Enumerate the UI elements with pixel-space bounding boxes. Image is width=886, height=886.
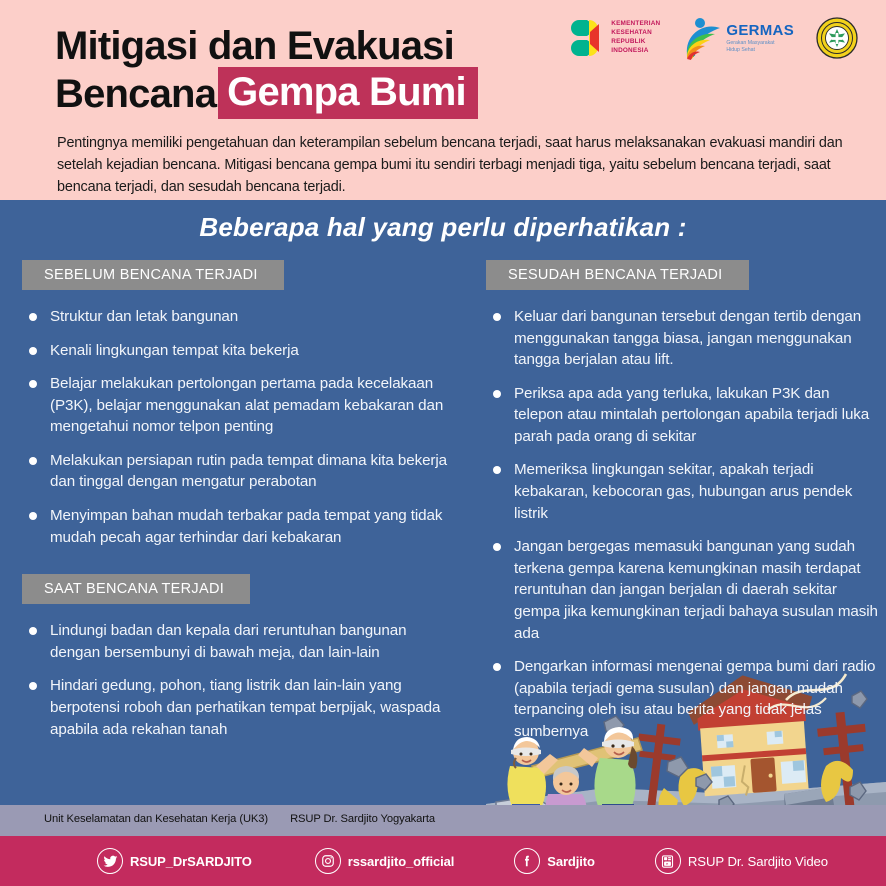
- list-sebelum-bencana: Struktur dan letak bangunan Kenali lingk…: [22, 306, 452, 548]
- list-item-text: Belajar melakukan pertolongan pertama pa…: [50, 375, 443, 435]
- group-saat-bencana: SAAT BENCANA TERJADI Lindungi badan dan …: [22, 548, 452, 740]
- credit-hospital: RSUP Dr. Sardjito Yogyakarta: [290, 813, 435, 825]
- germas-logo: GERMAS Gerakan Masyarakat Hidup Sehat: [682, 16, 794, 60]
- left-column: SEBELUM BENCANA TERJADI Struktur dan let…: [22, 260, 452, 740]
- list-item-text: Periksa apa ada yang terluka, lakukan P3…: [514, 385, 869, 445]
- kemenkes-line-3: REPUBLIK: [611, 38, 660, 47]
- list-item: Memeriksa lingkungan sekitar, apakah ter…: [486, 459, 878, 524]
- list-item-text: Lindungi badan dan kepala dari reruntuha…: [50, 622, 406, 661]
- kemenkes-line-4: INDONESIA: [611, 47, 660, 56]
- list-item: Melakukan persiapan rutin pada tempat di…: [22, 450, 452, 493]
- list-item-text: Hindari gedung, pohon, tiang listrik dan…: [50, 677, 440, 737]
- bullet-dot-icon: [29, 457, 37, 465]
- list-item-text: Menyimpan bahan mudah terbakar pada temp…: [50, 507, 442, 546]
- category-label-sesudah: SESUDAH BENCANA TERJADI: [486, 260, 749, 290]
- credit-unit: Unit Keselamatan dan Kesehatan Kerja (UK…: [44, 813, 268, 825]
- bullet-dot-icon: [493, 663, 501, 671]
- twitter-icon[interactable]: [97, 848, 123, 874]
- germas-subtitle: Gerakan Masyarakat Hidup Sehat: [726, 40, 794, 54]
- bullet-dot-icon: [493, 543, 501, 551]
- list-item-text: Keluar dari bangunan tersebut dengan ter…: [514, 308, 861, 368]
- bullet-dot-icon: [29, 682, 37, 690]
- germas-sub-2: Hidup Sehat: [726, 47, 794, 54]
- category-label-saat: SAAT BENCANA TERJADI: [22, 574, 250, 604]
- germas-title: GERMAS: [726, 22, 794, 39]
- hospital-seal-icon: [816, 17, 858, 59]
- social-instagram[interactable]: rssardjito_official: [315, 848, 454, 874]
- list-item: Hindari gedung, pohon, tiang listrik dan…: [22, 675, 452, 740]
- facebook-icon[interactable]: [514, 848, 540, 874]
- group-sebelum-bencana: SEBELUM BENCANA TERJADI Struktur dan let…: [22, 260, 452, 548]
- list-item: Struktur dan letak bangunan: [22, 306, 452, 328]
- bullet-dot-icon: [29, 380, 37, 388]
- list-item: Kenali lingkungan tempat kita bekerja: [22, 340, 452, 362]
- kemenkes-logo: KEMENTERIAN KESEHATAN REPUBLIK INDONESIA: [571, 18, 660, 58]
- social-youtube[interactable]: RSUP Dr. Sardjito Video: [655, 848, 828, 874]
- social-footer: RSUP_DrSARDJITO rssardjito_official Sard…: [0, 836, 886, 886]
- list-item: Menyimpan bahan mudah terbakar pada temp…: [22, 505, 452, 548]
- credit-bar: Unit Keselamatan dan Kesehatan Kerja (UK…: [0, 805, 886, 836]
- facebook-handle[interactable]: Sardjito: [547, 854, 595, 869]
- social-twitter[interactable]: RSUP_DrSARDJITO: [97, 848, 252, 874]
- intro-paragraph: Pentingnya memiliki pengetahuan dan kete…: [57, 133, 847, 199]
- title-plain-text: Bencana: [55, 72, 216, 118]
- instagram-handle[interactable]: rssardjito_official: [348, 854, 454, 869]
- bullet-dot-icon: [493, 313, 501, 321]
- kemenkes-mark-icon: [571, 18, 607, 58]
- list-item-text: Struktur dan letak bangunan: [50, 308, 238, 325]
- list-sesudah-bencana: Keluar dari bangunan tersebut dengan ter…: [486, 306, 878, 742]
- bullet-dot-icon: [493, 390, 501, 398]
- poster-title: Mitigasi dan Evakuasi Bencana Gempa Bumi: [55, 24, 575, 119]
- kemenkes-line-2: KESEHATAN: [611, 29, 660, 38]
- list-item-text: Kenali lingkungan tempat kita bekerja: [50, 342, 299, 359]
- list-item-text: Melakukan persiapan rutin pada tempat di…: [50, 452, 447, 491]
- bullet-dot-icon: [29, 627, 37, 635]
- poster-header: Mitigasi dan Evakuasi Bencana Gempa Bumi…: [0, 0, 886, 200]
- bullet-dot-icon: [493, 466, 501, 474]
- logo-row: KEMENTERIAN KESEHATAN REPUBLIK INDONESIA: [571, 16, 858, 60]
- list-saat-bencana: Lindungi badan dan kepala dari reruntuha…: [22, 620, 452, 740]
- rsup-sardjito-seal: [816, 17, 858, 59]
- youtube-handle[interactable]: RSUP Dr. Sardjito Video: [688, 854, 828, 869]
- germas-sub-1: Gerakan Masyarakat: [726, 40, 794, 47]
- bullet-dot-icon: [29, 512, 37, 520]
- list-item: Periksa apa ada yang terluka, lakukan P3…: [486, 383, 878, 448]
- kemenkes-line-1: KEMENTERIAN: [611, 20, 660, 29]
- group-sesudah-bencana: SESUDAH BENCANA TERJADI Keluar dari bang…: [486, 260, 878, 742]
- infographic-poster: Mitigasi dan Evakuasi Bencana Gempa Bumi…: [0, 0, 886, 886]
- list-item-text: Jangan bergegas memasuki bangunan yang s…: [514, 538, 878, 641]
- list-item: Lindungi badan dan kepala dari reruntuha…: [22, 620, 452, 663]
- germas-wordmark: GERMAS Gerakan Masyarakat Hidup Sehat: [726, 22, 794, 54]
- right-column: SESUDAH BENCANA TERJADI Keluar dari bang…: [486, 260, 878, 742]
- bullet-dot-icon: [29, 347, 37, 355]
- list-item: Dengarkan informasi mengenai gempa bumi …: [486, 656, 878, 742]
- germas-swoosh-icon: [682, 16, 724, 60]
- instagram-icon[interactable]: [315, 848, 341, 874]
- title-highlight-text: Gempa Bumi: [218, 67, 478, 119]
- title-line-2: Bencana Gempa Bumi: [55, 72, 575, 119]
- category-label-sebelum: SEBELUM BENCANA TERJADI: [22, 260, 284, 290]
- credit-text: Unit Keselamatan dan Kesehatan Kerja (UK…: [44, 813, 435, 825]
- social-facebook[interactable]: Sardjito: [514, 848, 595, 874]
- twitter-handle[interactable]: RSUP_DrSARDJITO: [130, 854, 252, 869]
- bullet-dot-icon: [29, 313, 37, 321]
- list-item: Keluar dari bangunan tersebut dengan ter…: [486, 306, 878, 371]
- kemenkes-wordmark: KEMENTERIAN KESEHATAN REPUBLIK INDONESIA: [611, 20, 660, 55]
- list-item-text: Memeriksa lingkungan sekitar, apakah ter…: [514, 461, 852, 521]
- title-line-1: Mitigasi dan Evakuasi: [55, 24, 575, 70]
- list-item-text: Dengarkan informasi mengenai gempa bumi …: [514, 658, 875, 740]
- list-item: Belajar melakukan pertolongan pertama pa…: [22, 373, 452, 438]
- section-heading: Beberapa hal yang perlu diperhatikan :: [0, 212, 886, 243]
- list-item: Jangan bergegas memasuki bangunan yang s…: [486, 536, 878, 644]
- youtube-icon[interactable]: [655, 848, 681, 874]
